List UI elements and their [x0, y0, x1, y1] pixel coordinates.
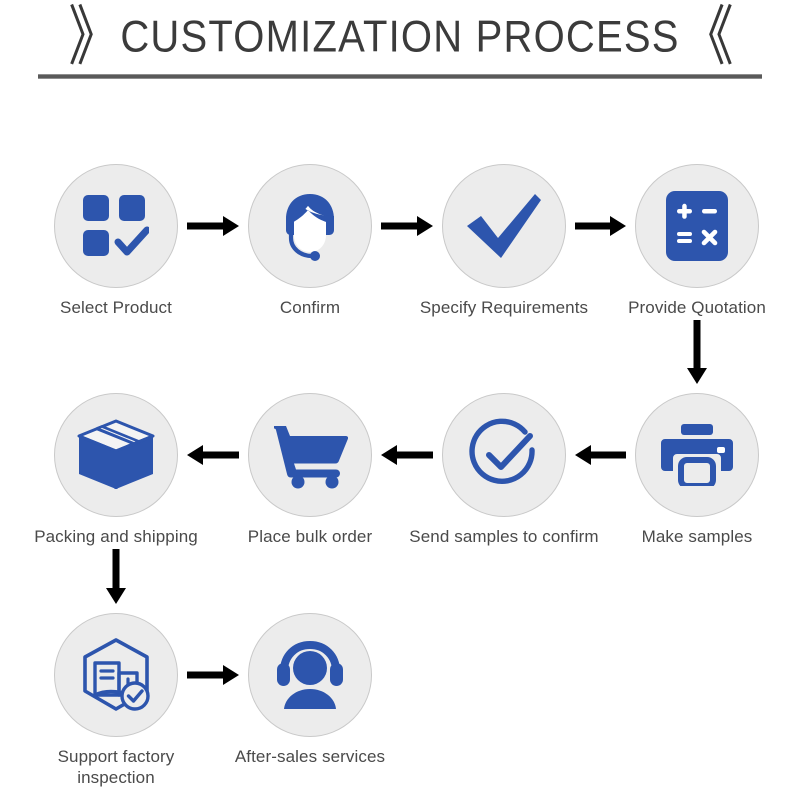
flow-arrow-right [187, 213, 239, 239]
flow-arrow-right [381, 213, 433, 239]
step-icon-circle [635, 393, 759, 517]
process-step-6[interactable]: Send samples to confirm [404, 393, 604, 547]
flow-arrow-left [575, 442, 626, 468]
step-label: Support factory inspection [16, 746, 216, 788]
headset-agent-icon [274, 190, 346, 262]
step-icon-circle [248, 164, 372, 288]
page-title: CUSTOMIZATION PROCESS [120, 11, 679, 63]
step-icon-circle [442, 393, 566, 517]
process-step-2[interactable]: Confirm [210, 164, 410, 318]
step-label: Provide Quotation [597, 297, 797, 318]
page-header: 》 CUSTOMIZATION PROCESS 《 [0, 0, 800, 90]
support-person-icon [272, 641, 348, 709]
step-icon-circle [54, 613, 178, 737]
step-label: Packing and shipping [16, 526, 216, 547]
step-label: Make samples [597, 526, 797, 547]
circle-check-icon [467, 418, 541, 492]
step-icon-circle [442, 164, 566, 288]
title-divider [38, 74, 762, 79]
step-label: Send samples to confirm [404, 526, 604, 547]
step-label: Place bulk order [210, 526, 410, 547]
process-step-8[interactable]: Packing and shipping [16, 393, 216, 547]
flow-arrow-right [187, 662, 239, 688]
process-step-9[interactable]: Support factory inspection [16, 613, 216, 788]
process-step-5[interactable]: Make samples [597, 393, 797, 547]
step-label: After-sales services [210, 746, 410, 767]
step-icon-circle [54, 393, 178, 517]
checkmark-icon [465, 192, 543, 260]
double-chevron-right-icon: 》 [68, 5, 118, 70]
calculator-icon [666, 191, 728, 261]
process-step-1[interactable]: Select Product [16, 164, 216, 318]
process-step-10[interactable]: After-sales services [210, 613, 410, 767]
step-icon-circle [248, 393, 372, 517]
grid-check-icon [83, 195, 149, 257]
factory-shield-check-icon [77, 637, 155, 713]
shopping-cart-icon [272, 421, 348, 489]
flow-arrow-left [187, 442, 239, 468]
step-label: Select Product [16, 297, 216, 318]
flow-arrow-right [575, 213, 626, 239]
step-label: Specify Requirements [404, 297, 604, 318]
step-icon-circle [54, 164, 178, 288]
printer-icon [661, 424, 733, 486]
flow-arrow-left [381, 442, 433, 468]
step-icon-circle [635, 164, 759, 288]
title-row: 》 CUSTOMIZATION PROCESS 《 [0, 8, 800, 66]
process-step-3[interactable]: Specify Requirements [404, 164, 604, 318]
double-chevron-left-icon: 《 [682, 5, 732, 70]
flow-arrow-down [684, 320, 710, 384]
process-step-7[interactable]: Place bulk order [210, 393, 410, 547]
process-step-4[interactable]: Provide Quotation [597, 164, 797, 318]
package-box-icon [77, 419, 155, 491]
flow-arrow-down [103, 549, 129, 604]
step-label: Confirm [210, 297, 410, 318]
step-icon-circle [248, 613, 372, 737]
